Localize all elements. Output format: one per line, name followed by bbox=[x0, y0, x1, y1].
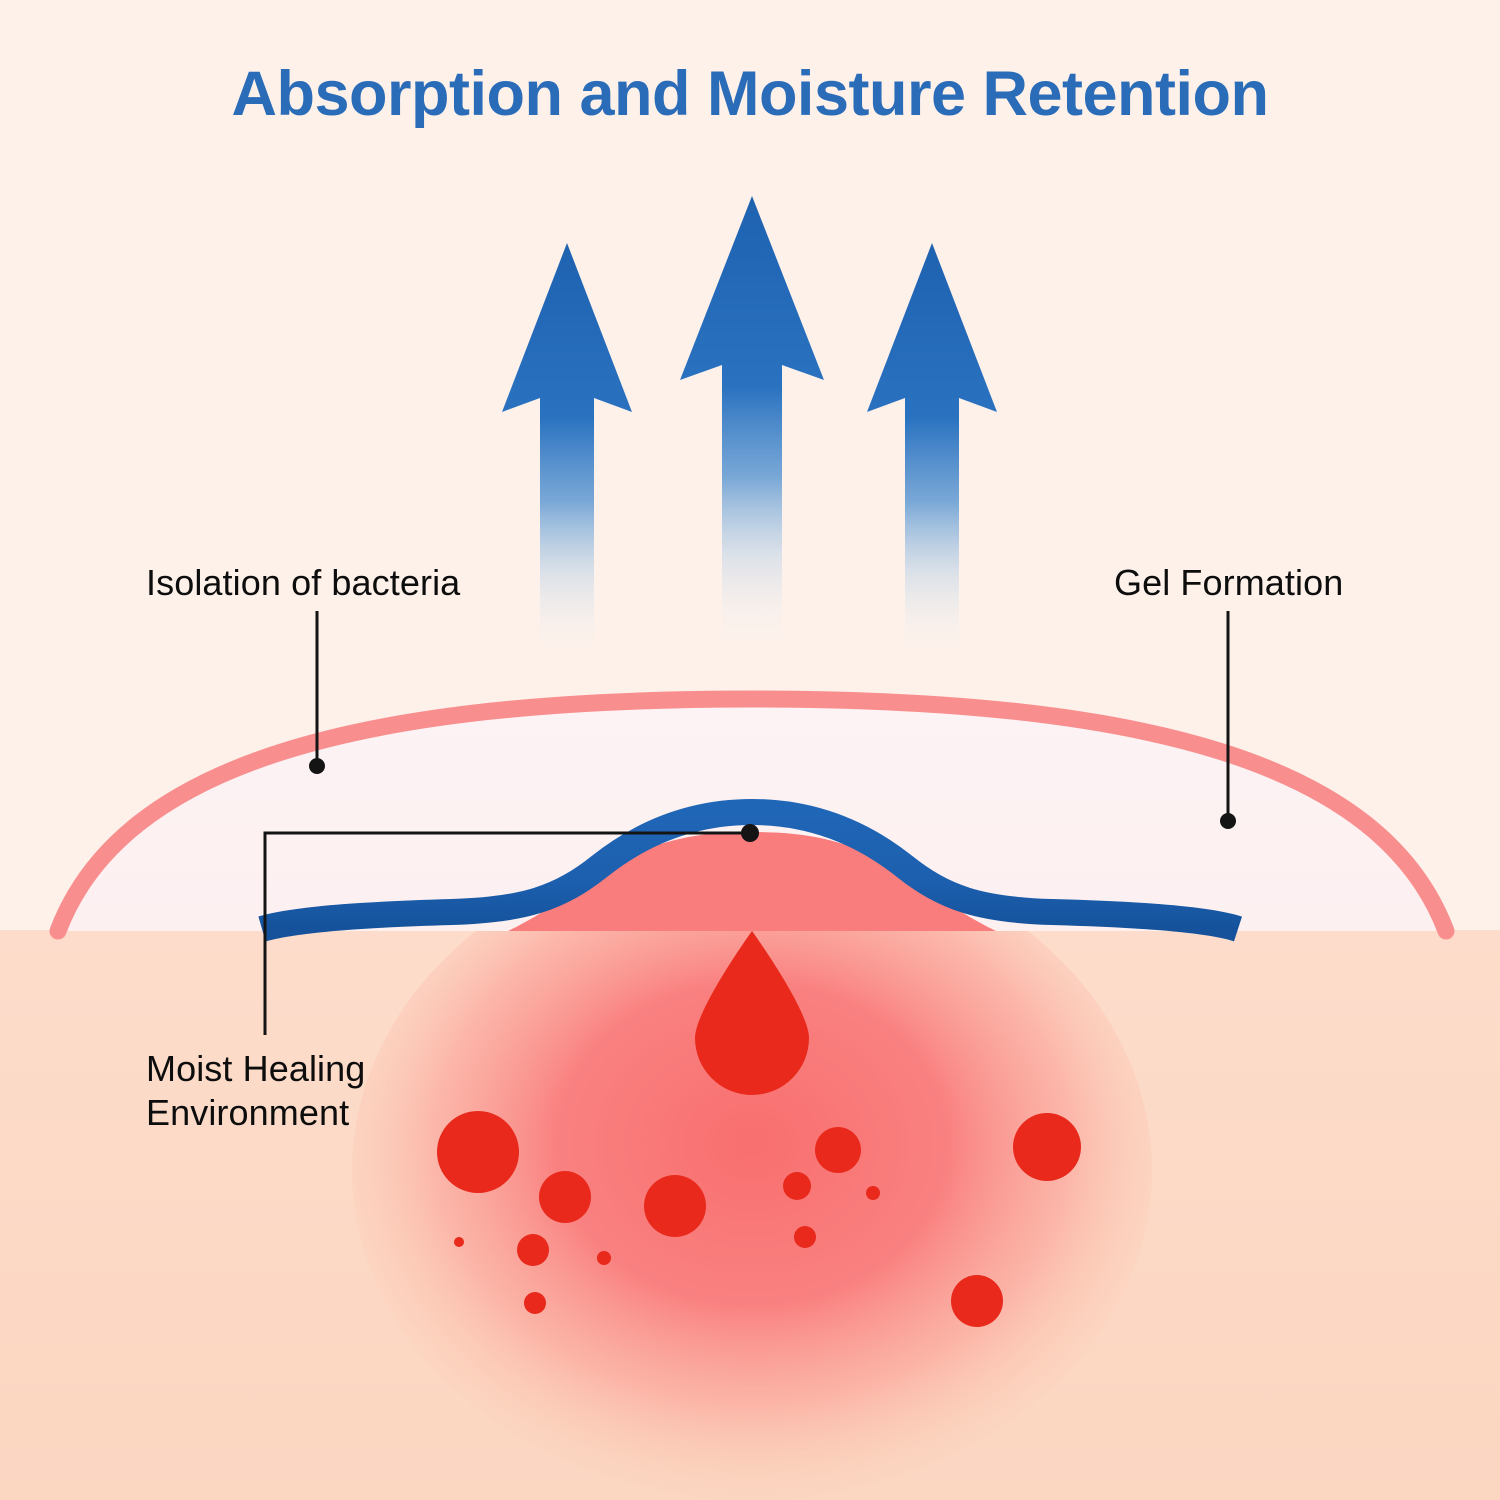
blood-circle bbox=[437, 1111, 519, 1193]
blood-circle bbox=[517, 1234, 549, 1266]
blood-circle bbox=[539, 1171, 591, 1223]
blood-circle bbox=[866, 1186, 880, 1200]
blood-circle bbox=[1013, 1113, 1081, 1181]
blood-circle bbox=[644, 1175, 706, 1237]
leader-dot-isolation bbox=[309, 758, 325, 774]
blood-circle bbox=[951, 1275, 1003, 1327]
blood-circle bbox=[794, 1226, 816, 1248]
label-moist-healing-environment: Moist Healing Environment bbox=[146, 1047, 365, 1135]
diagram-canvas: Absorption and Moisture Retention Isolat… bbox=[0, 0, 1500, 1500]
blood-circle bbox=[783, 1172, 811, 1200]
wound-dressing-cross-section bbox=[0, 0, 1500, 1500]
label-gel-formation: Gel Formation bbox=[1114, 561, 1343, 605]
leader-dot-gel bbox=[1220, 813, 1236, 829]
blood-circle bbox=[815, 1127, 861, 1173]
leader-dot-moist bbox=[741, 824, 759, 842]
blood-circle bbox=[524, 1292, 546, 1314]
label-isolation-of-bacteria: Isolation of bacteria bbox=[146, 561, 460, 605]
blood-circle bbox=[454, 1237, 464, 1247]
blood-circle bbox=[597, 1251, 611, 1265]
